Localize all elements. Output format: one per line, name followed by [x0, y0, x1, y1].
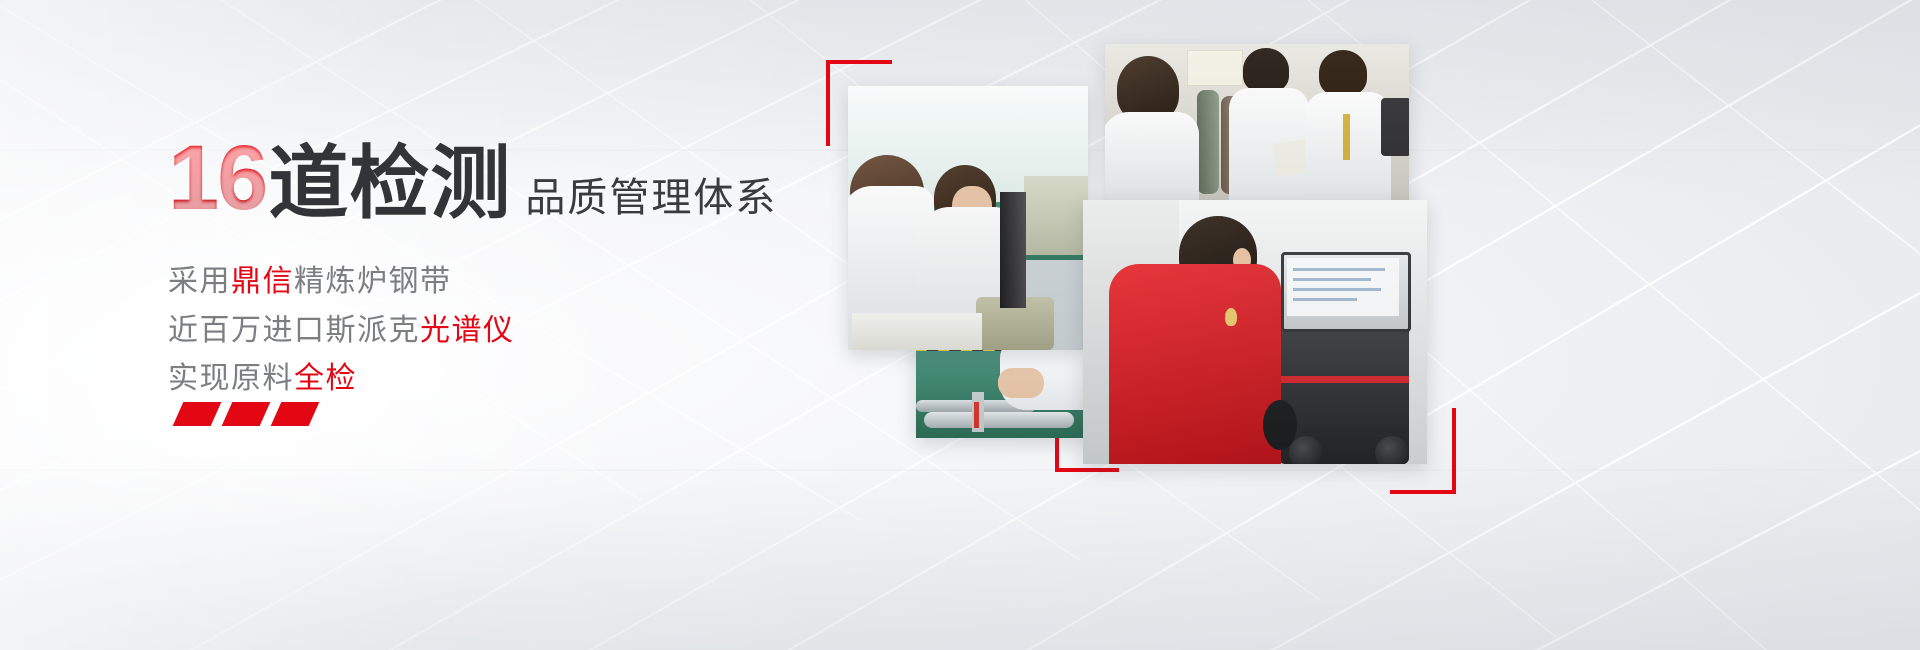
headline-main: 道检测	[268, 144, 511, 224]
photo-equipment-operator	[1083, 200, 1427, 464]
line-3-highlight: 全检	[294, 362, 357, 395]
photo-caliper-measurement	[916, 338, 1088, 438]
slash-mark-1	[173, 402, 222, 426]
description-list: 采用鼎信精炼炉钢带 近百万进口斯派克光谱仪 实现原料全检	[168, 258, 808, 404]
headline-number: 16	[168, 132, 266, 224]
copy-block: 16 道检测 品质管理体系 采用鼎信精炼炉钢带 近百万进口斯派克光谱仪 实现原料…	[168, 132, 808, 404]
line-2-highlight: 光谱仪	[420, 314, 515, 347]
description-line-3: 实现原料全检	[168, 355, 808, 404]
description-line-1: 采用鼎信精炼炉钢带	[168, 258, 808, 307]
slash-mark-3	[271, 402, 320, 426]
photo-lab-staff-record	[1105, 44, 1409, 216]
slash-mark-2	[222, 402, 271, 426]
headline: 16 道检测 品质管理体系	[168, 132, 808, 224]
slash-decoration	[178, 402, 338, 430]
line-3-pre: 实现原料	[168, 362, 294, 395]
line-1-post: 精炼炉钢带	[294, 265, 452, 298]
description-line-2: 近百万进口斯派克光谱仪	[168, 307, 808, 356]
headline-subtitle: 品质管理体系	[525, 178, 777, 224]
line-1-highlight: 鼎信	[231, 265, 294, 298]
line-1-pre: 采用	[168, 265, 231, 298]
banner-stage: 16 道检测 品质管理体系 采用鼎信精炼炉钢带 近百万进口斯派克光谱仪 实现原料…	[0, 0, 1920, 650]
photo-microscope-inspection	[848, 86, 1088, 350]
line-2-pre: 近百万进口斯派克	[168, 314, 420, 347]
